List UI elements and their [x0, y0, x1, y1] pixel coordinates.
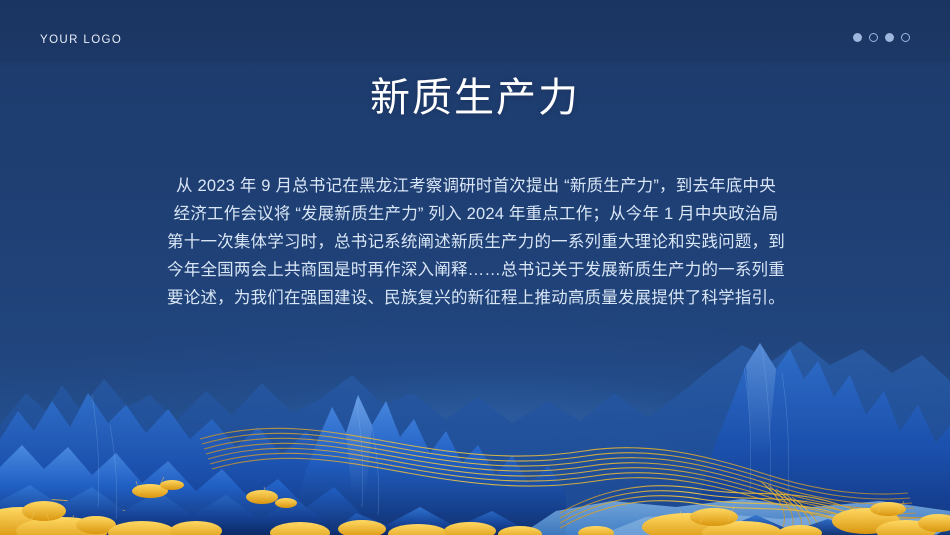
slide-title: 新质生产力: [0, 74, 950, 122]
header-band: [0, 0, 950, 62]
pagination-dots[interactable]: [853, 33, 910, 42]
logo-text: YOUR LOGO: [40, 34, 122, 46]
body-line: 从 2023 年 9 月总书记在黑龙江考察调研时首次提出 “新质生产力”，到去年…: [143, 172, 809, 200]
pagination-dot-2[interactable]: [869, 33, 878, 42]
pagination-dot-1[interactable]: [853, 33, 862, 42]
body-paragraph: 从 2023 年 9 月总书记在黑龙江考察调研时首次提出 “新质生产力”，到去年…: [143, 172, 809, 312]
pagination-dot-4[interactable]: [901, 33, 910, 42]
body-line: 第十一次集体学习时，总书记系统阐述新质生产力的一系列重大理论和实践问题，到: [143, 228, 809, 256]
pagination-dot-3[interactable]: [885, 33, 894, 42]
body-line: 今年全国两会上共商国是时再作深入阐释……总书记关于发展新质生产力的一系列重: [143, 256, 809, 284]
body-line: 要论述，为我们在强国建设、民族复兴的新征程上推动高质量发展提供了科学指引。: [143, 284, 809, 312]
body-line: 经济工作会议将 “发展新质生产力” 列入 2024 年重点工作；从今年 1 月中…: [143, 200, 809, 228]
presentation-slide: YOUR LOGO 新质生产力 从 2023 年 9 月总书记在黑龙江考察调研时…: [0, 0, 950, 535]
mountain-landscape-artwork: [0, 335, 950, 535]
